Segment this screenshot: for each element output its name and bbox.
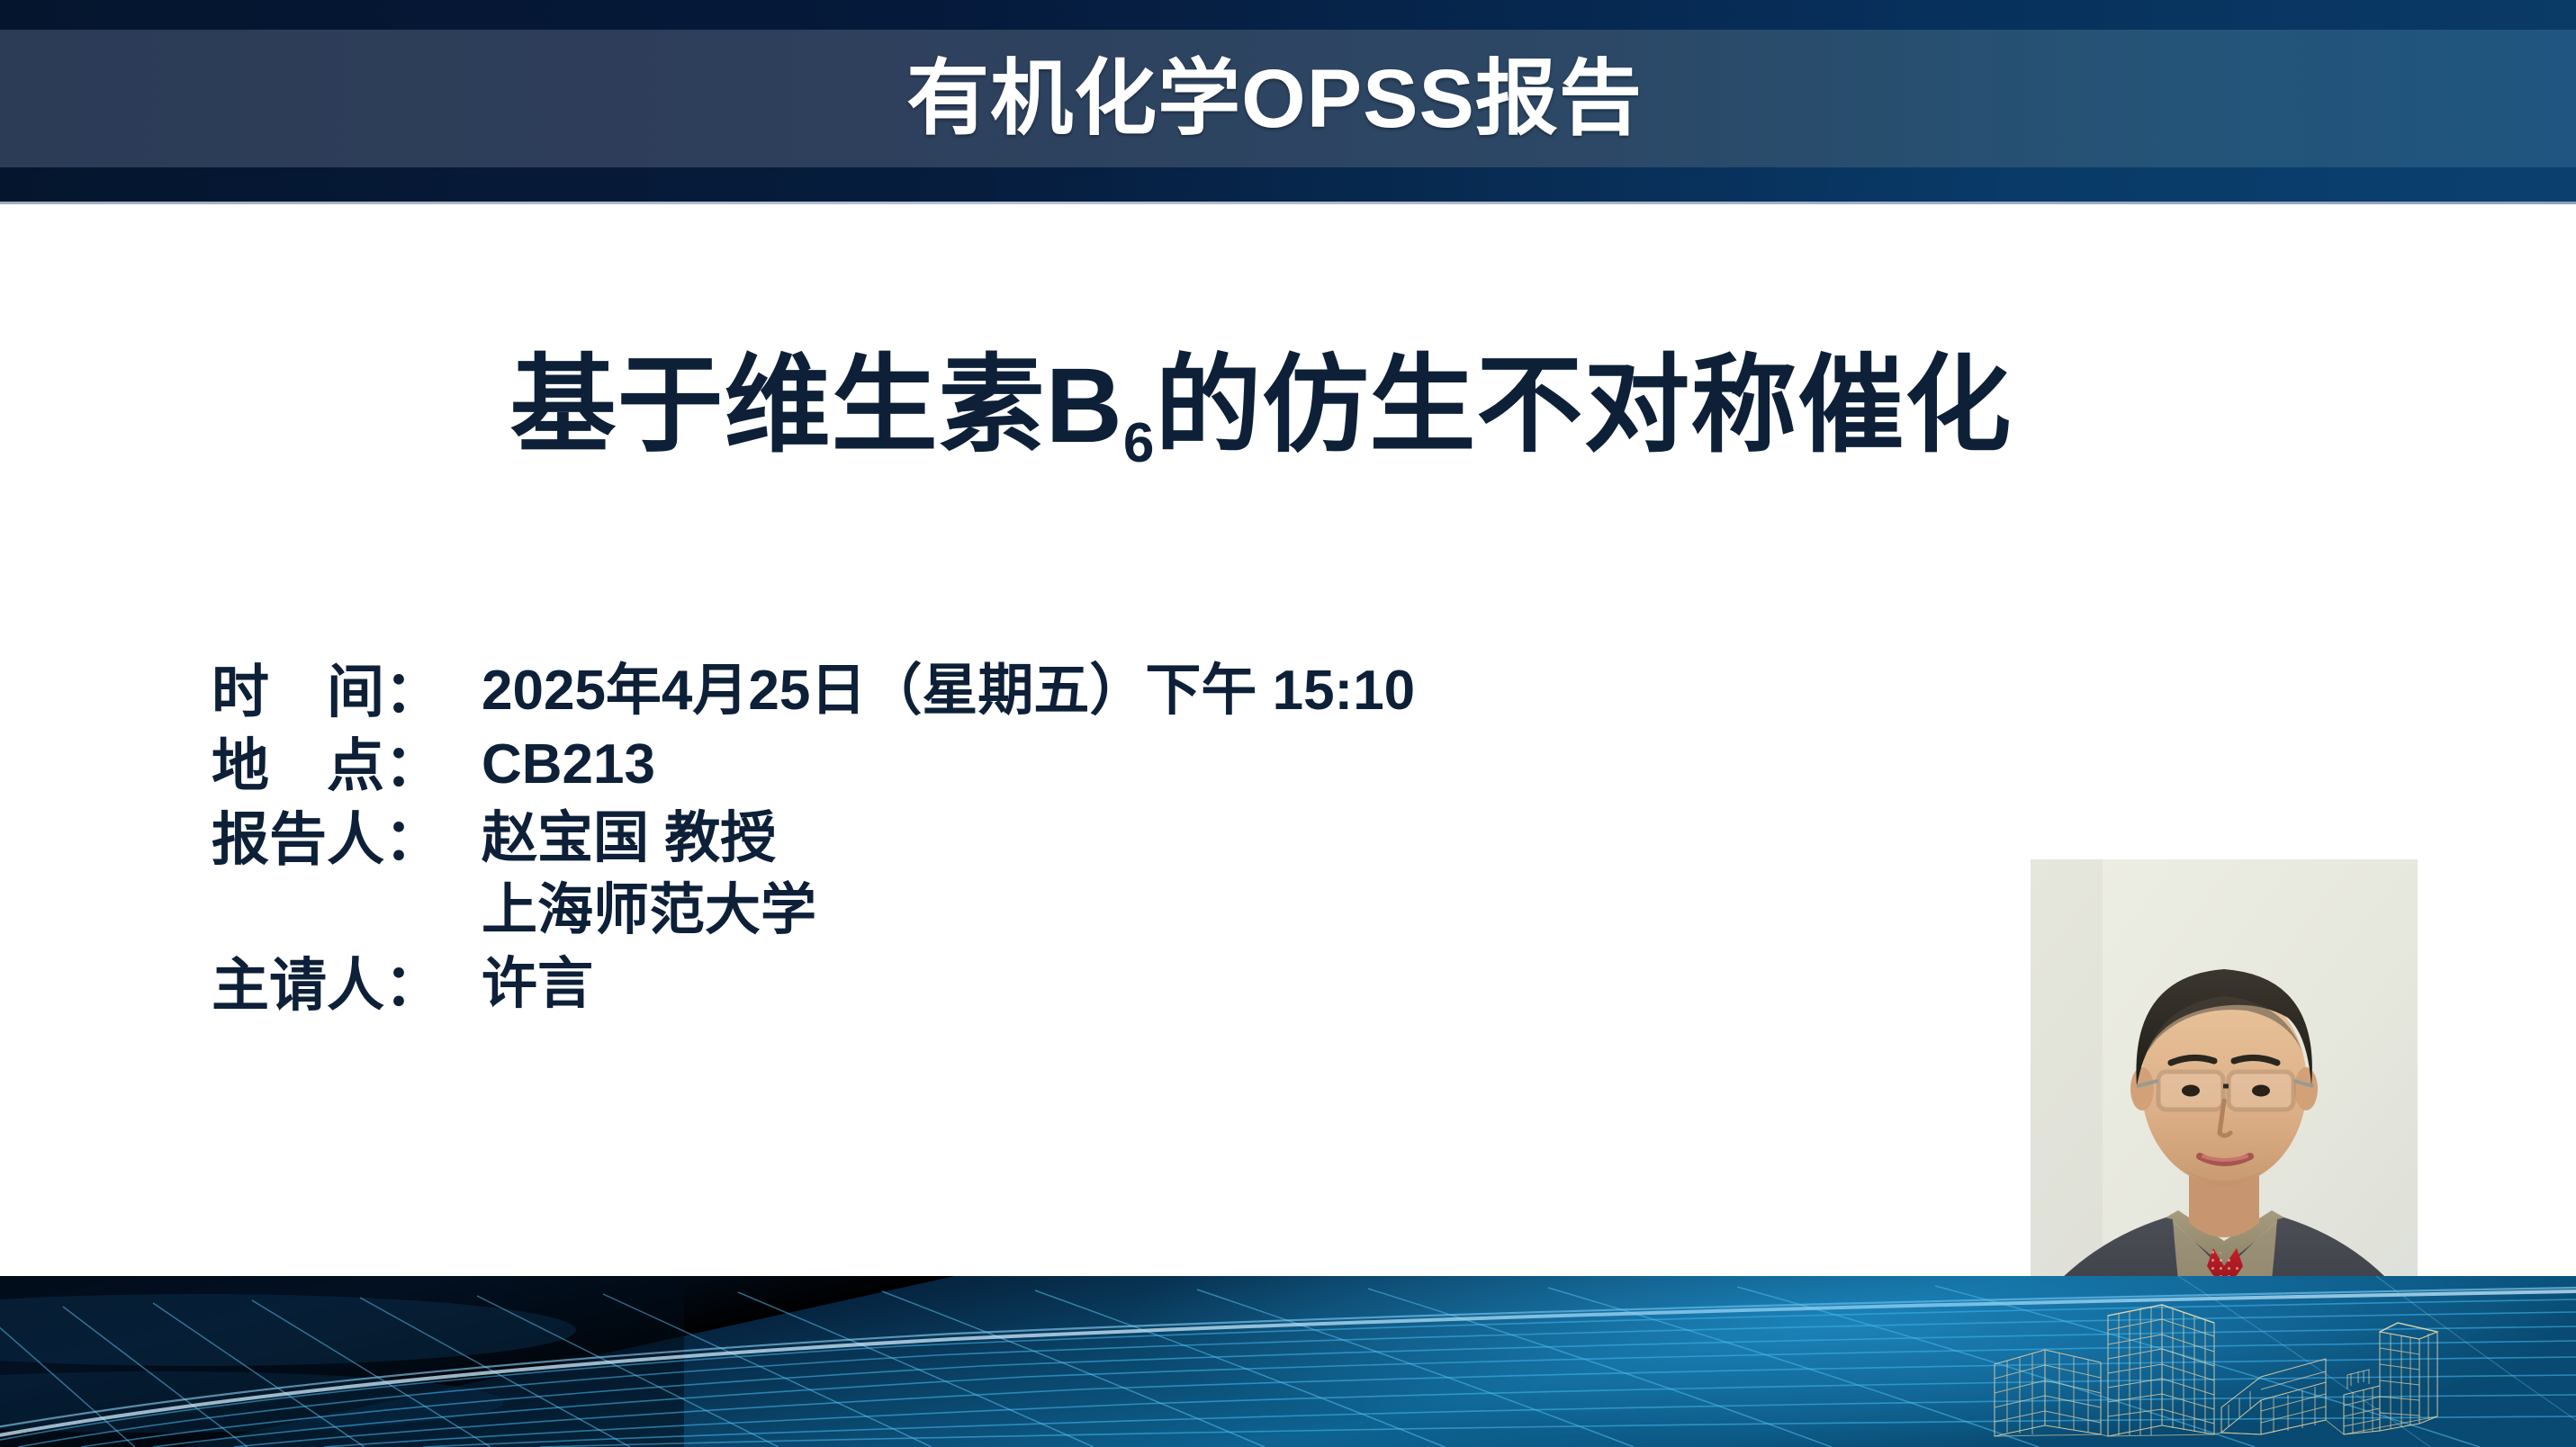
info-value-speaker: 赵宝国 教授 (482, 811, 776, 867)
chemistry-building-wireframe (1991, 1299, 2459, 1443)
slide-body: 基于维生素B6的仿生不对称催化 时 间： 2025年4月25日（星期五）下午 1… (0, 204, 2576, 1276)
info-row-location: 地 点： CB213 (212, 737, 1415, 795)
info-row-speaker: 报告人： 赵宝国 教授 (212, 811, 1415, 868)
header-title: 有机化学OPSS报告 (0, 30, 2576, 167)
page-title: 基于维生素B6的仿生不对称催化 (0, 348, 2576, 465)
info-row-host: 主请人： 许言 (212, 957, 1415, 1014)
info-value-affiliation: 上海师范大学 (482, 883, 816, 939)
page-title-main: 基于维生素B (510, 346, 1123, 465)
header-bottom-strip (0, 167, 2576, 202)
info-row-time: 时 间： 2025年4月25日（星期五）下午 15:10 (212, 663, 1415, 721)
building-line-art (1991, 1299, 2459, 1443)
page-title-subscript: 6 (1123, 412, 1155, 474)
header-top-strip (0, 0, 2576, 30)
event-info-block: 时 间： 2025年4月25日（星期五）下午 15:10 地 点： CB213 … (212, 663, 1415, 1030)
info-value-time: 2025年4月25日（星期五）下午 15:10 (482, 663, 1415, 719)
info-label-time: 时 间： (212, 663, 482, 721)
info-label-location: 地 点： (212, 737, 482, 795)
footer-banner: PEKING UNIVERSITY 1898 化 (0, 1276, 2576, 1447)
info-label-speaker: 报告人： (212, 811, 482, 868)
info-value-location: CB213 (482, 737, 655, 793)
header-banner: 有机化学OPSS报告 (0, 0, 2576, 204)
info-value-host: 许言 (482, 957, 593, 1012)
page-title-tail: 的仿生不对称催化 (1155, 346, 2012, 465)
info-row-affiliation: 报告人： 上海师范大学 (212, 883, 1415, 940)
info-label-host: 主请人： (212, 957, 482, 1014)
